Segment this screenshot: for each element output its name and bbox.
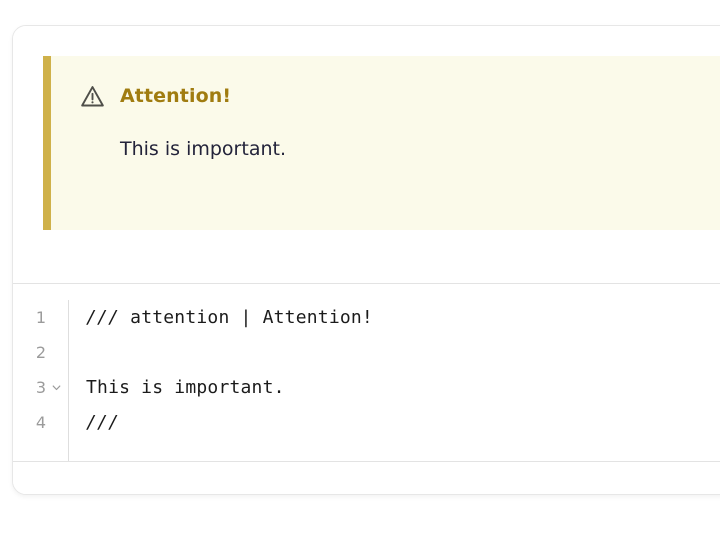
block-marker: /// [86, 307, 119, 328]
fold-placeholder [51, 417, 62, 428]
callout-body: Attention! This is important. [51, 56, 720, 230]
callout-title: Attention! [120, 87, 231, 106]
gutter-row[interactable]: 3 [13, 370, 62, 405]
line-number: 1 [36, 308, 46, 327]
code-line[interactable]: /// attention | Attention! [86, 300, 720, 335]
code-text: attention | Attention! [119, 307, 373, 328]
code-line[interactable]: This is important. [86, 370, 720, 405]
chevron-down-icon[interactable] [51, 382, 62, 393]
callout-title-row: Attention! [79, 83, 720, 110]
code-editor[interactable]: 1 2 3 4 /// attention [13, 284, 720, 462]
callout-accent-bar [43, 56, 51, 230]
block-marker: /// [86, 412, 119, 433]
code-line[interactable]: /// [86, 405, 720, 440]
line-number: 4 [36, 413, 46, 432]
alert-preview-region: Attention! This is important. [13, 26, 720, 284]
warning-triangle-icon [79, 83, 106, 110]
code-line[interactable] [86, 335, 720, 370]
attention-callout: Attention! This is important. [43, 56, 720, 230]
preview-card: Attention! This is important. 1 2 3 [12, 25, 720, 495]
code-text: This is important. [86, 377, 285, 398]
gutter-row[interactable]: 2 [13, 335, 62, 370]
line-number: 2 [36, 343, 46, 362]
callout-text: This is important. [120, 138, 720, 162]
line-number: 3 [36, 378, 46, 397]
card-footer [13, 463, 720, 494]
gutter-row[interactable]: 1 [13, 300, 62, 335]
code-content[interactable]: /// attention | Attention! This is impor… [69, 300, 720, 461]
gutter-row[interactable]: 4 [13, 405, 62, 440]
fold-placeholder [51, 312, 62, 323]
line-number-gutter: 1 2 3 4 [13, 300, 69, 461]
fold-placeholder [51, 347, 62, 358]
